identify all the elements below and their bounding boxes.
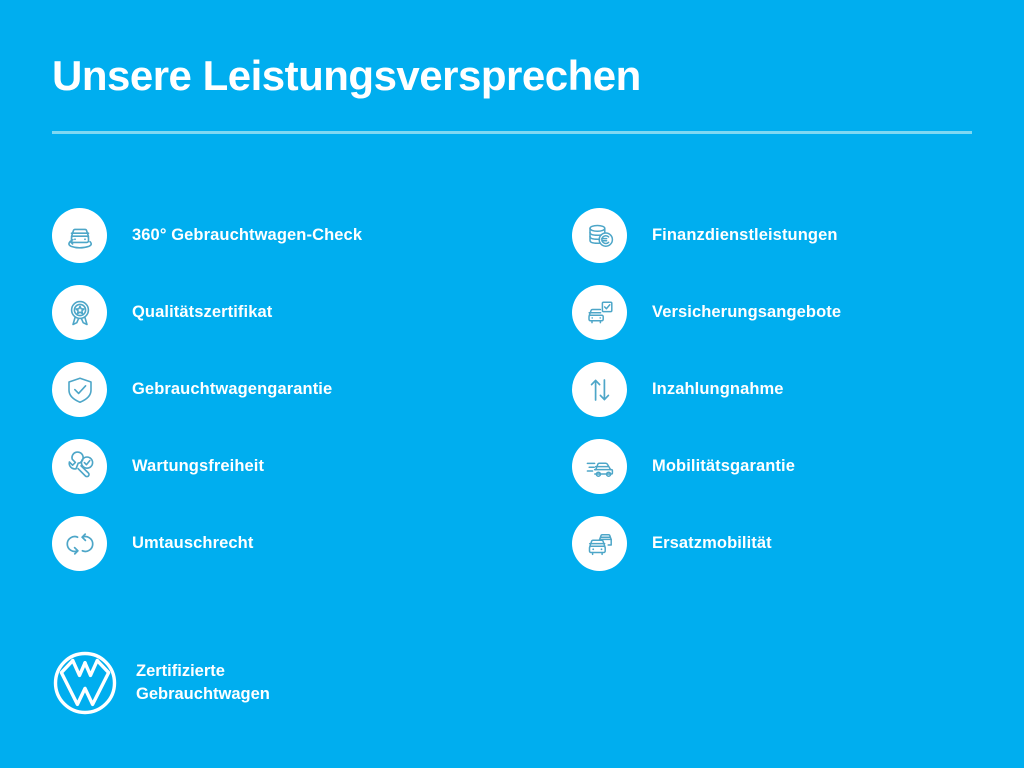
brand-lockup: Zertifizierte Gebrauchtwagen bbox=[52, 650, 270, 716]
feature-item-warranty[interactable]: Gebrauchtwagengarantie bbox=[52, 351, 512, 428]
feature-item-mobility-guarantee[interactable]: Mobilitätsgarantie bbox=[572, 428, 1024, 505]
feature-label: Ersatzmobilität bbox=[652, 534, 772, 553]
feature-label: Finanzdienstleistungen bbox=[652, 226, 838, 245]
wrench-check-icon bbox=[52, 439, 107, 494]
car-document-check-icon bbox=[572, 285, 627, 340]
car-motion-icon bbox=[572, 439, 627, 494]
page-title: Unsere Leistungsversprechen bbox=[52, 52, 641, 100]
feature-item-exchange-right[interactable]: Umtauschrecht bbox=[52, 505, 512, 582]
title-divider bbox=[52, 131, 972, 134]
features-column-right: Finanzdienstleistungen bbox=[512, 197, 1024, 582]
up-down-arrows-icon bbox=[572, 362, 627, 417]
feature-label: Gebrauchtwagengarantie bbox=[132, 380, 332, 399]
brand-text: Zertifizierte Gebrauchtwagen bbox=[136, 660, 270, 707]
feature-item-trade-in[interactable]: Inzahlungnahme bbox=[572, 351, 1024, 428]
feature-item-financial-services[interactable]: Finanzdienstleistungen bbox=[572, 197, 1024, 274]
volkswagen-logo bbox=[52, 650, 118, 716]
feature-label: Wartungsfreiheit bbox=[132, 457, 264, 476]
shield-check-icon bbox=[52, 362, 107, 417]
feature-label: Umtauschrecht bbox=[132, 534, 253, 553]
feature-item-360-check[interactable]: 360° Gebrauchtwagen-Check bbox=[52, 197, 512, 274]
coins-euro-icon bbox=[572, 208, 627, 263]
feature-item-quality-certificate[interactable]: Qualitätszertifikat bbox=[52, 274, 512, 351]
feature-item-maintenance-free[interactable]: Wartungsfreiheit bbox=[52, 428, 512, 505]
feature-item-insurance-offers[interactable]: Versicherungsangebote bbox=[572, 274, 1024, 351]
feature-label: Qualitätszertifikat bbox=[132, 303, 272, 322]
feature-label: 360° Gebrauchtwagen-Check bbox=[132, 226, 362, 245]
feature-item-replacement-mobility[interactable]: Ersatzmobilität bbox=[572, 505, 1024, 582]
features-column-left: 360° Gebrauchtwagen-Check Qualitätszerti… bbox=[0, 197, 512, 582]
features-grid: 360° Gebrauchtwagen-Check Qualitätszerti… bbox=[0, 197, 1024, 582]
slide-root: Unsere Leistungsversprechen 360° Gebrau bbox=[0, 0, 1024, 768]
two-cars-icon bbox=[572, 516, 627, 571]
feature-label: Inzahlungnahme bbox=[652, 380, 784, 399]
award-rosette-icon bbox=[52, 285, 107, 340]
exchange-arrows-icon bbox=[52, 516, 107, 571]
car-360-check-icon bbox=[52, 208, 107, 263]
feature-label: Mobilitätsgarantie bbox=[652, 457, 795, 476]
feature-label: Versicherungsangebote bbox=[652, 303, 841, 322]
